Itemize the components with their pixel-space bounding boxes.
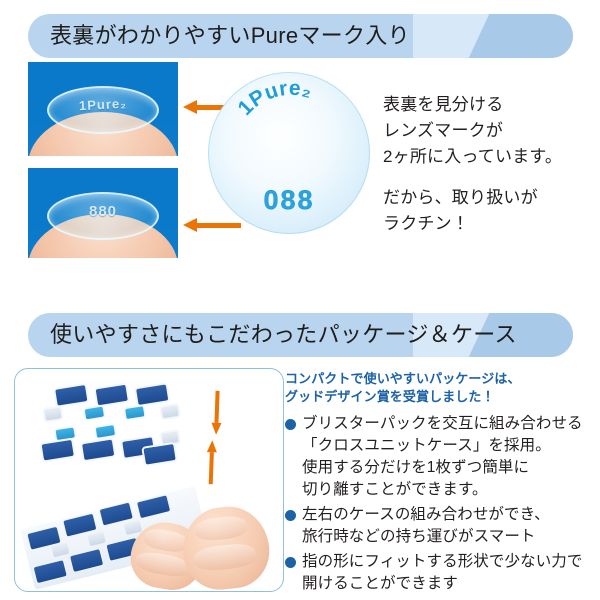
blister-cell: [96, 425, 115, 438]
motion-arrow-down: [211, 391, 223, 435]
lens-description-copy: 表裏を見分けるレンズマークが2ヶ所に入っています。 だから、取り扱いがラクチン！: [383, 92, 598, 237]
blister-cell: [144, 444, 176, 464]
contact-lens-shape: 880: [47, 192, 159, 240]
lens-photo-front: 1Pure₂: [28, 62, 178, 156]
blister-cell: [70, 549, 103, 572]
bullet-dot-icon: [285, 419, 296, 430]
blister-cell: [88, 532, 106, 547]
blister-cell: [161, 405, 179, 418]
finger-segment: [194, 515, 248, 542]
blister-cell: [51, 543, 69, 558]
bullet-dot-icon: [285, 510, 296, 521]
blister-cell: [34, 560, 67, 583]
list-item-label: ブリスターパックを交互に組み合わせる「クロスユニットケース」を採用。使用する分だ…: [302, 415, 583, 498]
blister-cell: [42, 440, 74, 460]
section-header-package: 使いやすさにもこだわったパッケージ＆ケース: [28, 313, 573, 357]
list-item-label: 指の形にフィットする形状で少ない力で開けることができます: [302, 553, 583, 592]
section-header-lens-mark: 表裏がわかりやすいPureマーク入り: [28, 14, 573, 58]
lens-copy-paragraph-1: 表裏を見分けるレンズマークが2ヶ所に入っています。: [383, 92, 598, 169]
list-item: 指の形にフィットする形状で少ない力で開けることができます: [285, 551, 597, 595]
lens-copy-paragraph-2: だから、取り扱いがラクチン！: [383, 185, 598, 237]
finger-segment: [134, 550, 191, 579]
list-item: ブリスターパックを交互に組み合わせる「クロスユニットケース」を採用。使用する分だ…: [285, 413, 597, 501]
lens-diagram-top-mark: 1Pure₂: [234, 77, 315, 120]
blister-cell: [82, 440, 114, 460]
blister-cell: [136, 384, 168, 404]
blister-cell: [63, 514, 96, 537]
lens-diagram-bottom-code: 088: [208, 185, 370, 216]
blister-cell: [100, 503, 133, 526]
lens-photo-front-mark: 1Pure₂: [49, 94, 158, 115]
blister-cell: [85, 407, 104, 420]
package-feature-list: ブリスターパックを交互に組み合わせる「クロスユニットケース」を採用。使用する分だ…: [285, 413, 597, 595]
arrow-head-icon: [207, 440, 217, 452]
lens-diagram: 1Pure₂ 088: [208, 72, 370, 234]
list-item-label: 左右のケースの組み合わせができ、旅行時などの持ち運びがスマート: [302, 506, 550, 545]
finger-segment: [193, 542, 257, 572]
blister-cell: [55, 385, 87, 405]
hands-holding-pack: [23, 477, 271, 587]
blister-cell: [56, 427, 75, 440]
blister-cell: [161, 431, 179, 444]
bullet-dot-icon: [285, 557, 296, 568]
list-item: 左右のケースの組み合わせができ、旅行時などの持ち運びがスマート: [285, 504, 597, 548]
section-header-lens-mark-label: 表裏がわかりやすいPureマーク入り: [28, 14, 573, 58]
arrow-head-icon: [211, 423, 221, 435]
blister-cell: [44, 407, 62, 420]
finger-segment: [142, 527, 189, 554]
contact-lens-shape: 1Pure₂: [47, 86, 159, 134]
package-intro-text: コンパクトで使いやすいパッケージは、グッドデザイン賞を受賞しました！: [285, 370, 597, 407]
blister-cell: [137, 495, 170, 518]
blister-cell: [125, 406, 144, 419]
lens-photo-back-mark: 880: [49, 203, 157, 220]
package-description-copy: コンパクトで使いやすいパッケージは、グッドデザイン賞を受賞しました！ ブリスター…: [285, 370, 597, 598]
arrow-shaft: [214, 391, 219, 423]
package-photo-panel: [14, 368, 284, 592]
blister-pack-grid: [34, 370, 195, 474]
section-header-package-label: 使いやすさにもこだわったパッケージ＆ケース: [28, 313, 573, 357]
blister-cell: [96, 385, 128, 405]
lens-photo-back: 880: [28, 168, 178, 258]
